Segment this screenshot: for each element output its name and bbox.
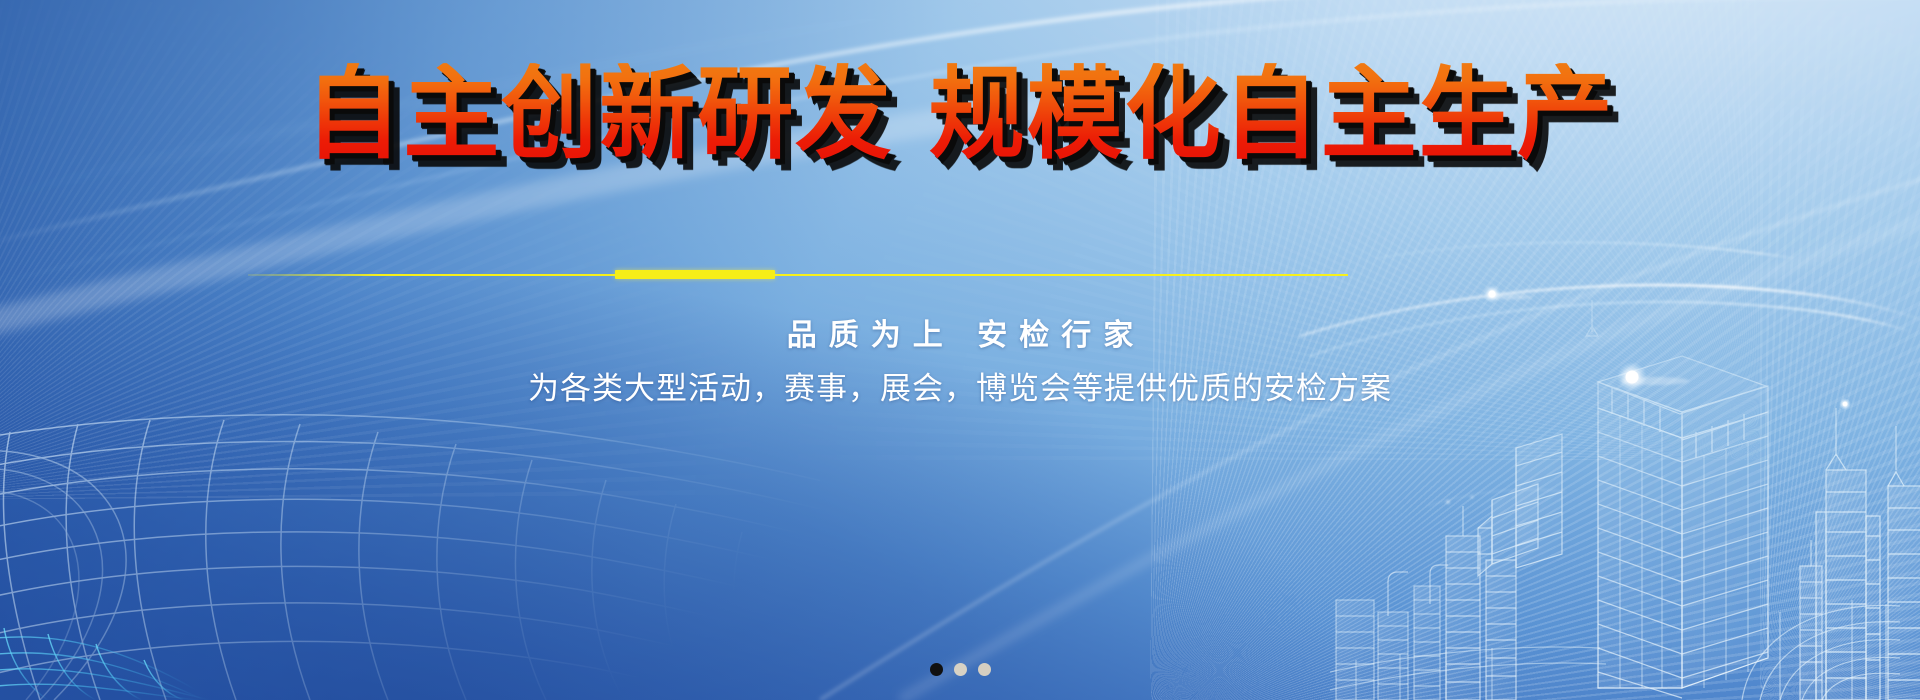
banner-headline: 自主创新研发 规模化自主生产 [0,66,1920,162]
banner-headline-text: 自主创新研发 规模化自主生产 [305,63,1614,165]
divider-line-right [770,274,1105,276]
carousel-dots[interactable] [0,663,1920,676]
carousel-dot-1[interactable] [930,663,943,676]
banner-subtitle-secondary: 为各类大型活动，赛事，展会，博览会等提供优质的安检方案 [0,363,1920,408]
carousel-dot-2[interactable] [954,663,967,676]
divider-center-block [615,270,775,279]
carousel-dot-3[interactable] [978,663,991,676]
banner-subtitle-primary: 品质为上 安检行家 [0,310,1920,354]
hero-banner: 自主创新研发 规模化自主生产 品质为上 安检行家 为各类大型活动，赛事，展会，博… [0,0,1920,700]
yellow-divider [0,268,1920,282]
